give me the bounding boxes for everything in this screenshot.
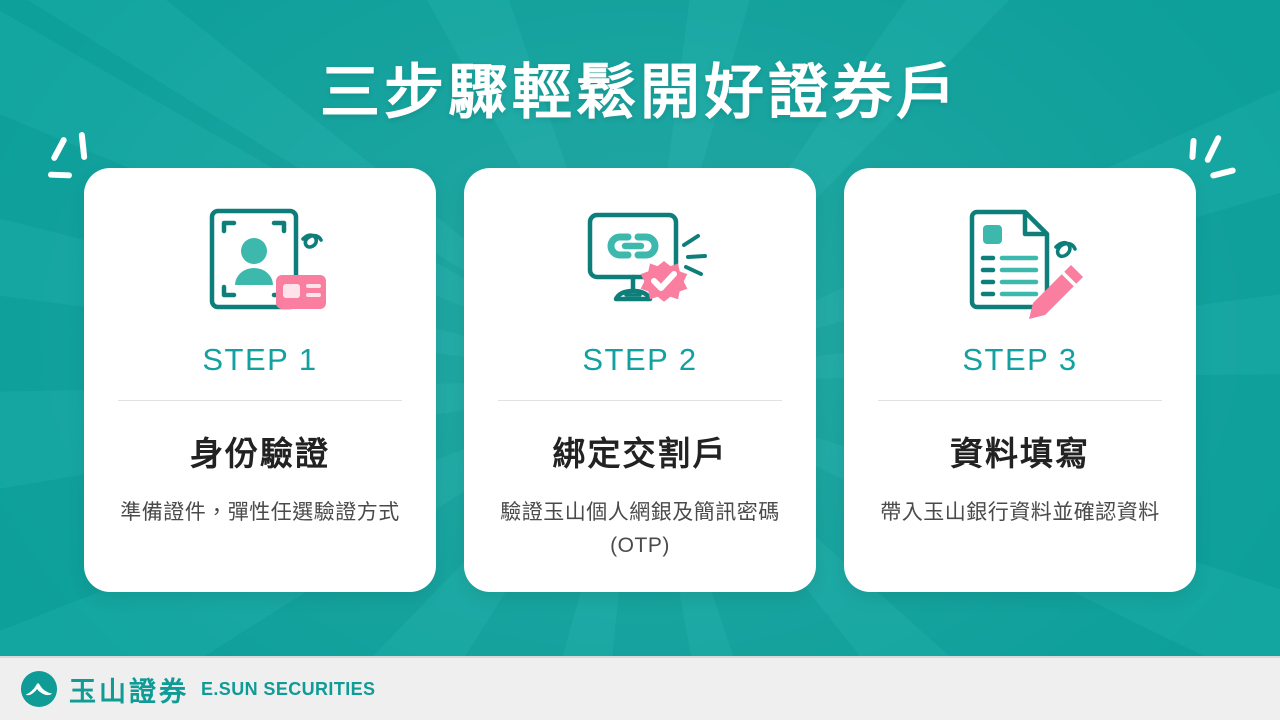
card-title: 資料填寫 (950, 427, 1090, 475)
poster-canvas: 三步驟輕鬆開好證券戶 (0, 0, 1280, 720)
card-title: 身份驗證 (190, 427, 330, 475)
brand-name-en: E.SUN SECURITIES (201, 679, 375, 700)
footer-bar: 玉山證券 E.SUN SECURITIES (0, 656, 1280, 720)
card-divider (118, 400, 402, 401)
page-title: 三步驟輕鬆開好證券戶 (0, 44, 1280, 131)
id-card-face-scan-icon (110, 198, 410, 328)
card-description: 準備證件，彈性任選驗證方式 (120, 497, 400, 530)
card-divider (498, 400, 782, 401)
monitor-link-verified-icon (490, 198, 790, 328)
esun-mountain-logo-icon (20, 670, 58, 708)
card-description: 帶入玉山銀行資料並確認資料 (880, 497, 1160, 530)
step-label: STEP 2 (582, 342, 697, 378)
step-card[interactable]: STEP 3 資料填寫 帶入玉山銀行資料並確認資料 (844, 168, 1196, 592)
brand-name-cn: 玉山證券 (69, 670, 189, 709)
step-card[interactable]: STEP 1 身份驗證 準備證件，彈性任選驗證方式 (84, 168, 436, 592)
step-label: STEP 3 (962, 342, 1077, 378)
card-divider (878, 400, 1162, 401)
card-title: 綁定交割戶 (553, 427, 728, 475)
step-label: STEP 1 (202, 342, 317, 378)
document-pencil-icon (870, 198, 1170, 328)
card-description: 驗證玉山個人網銀及簡訊密碼(OTP) (490, 497, 790, 562)
step-card[interactable]: STEP 2 綁定交割戶 驗證玉山個人網銀及簡訊密碼(OTP) (464, 168, 816, 592)
steps-container: STEP 1 身份驗證 準備證件，彈性任選驗證方式 (0, 168, 1280, 592)
